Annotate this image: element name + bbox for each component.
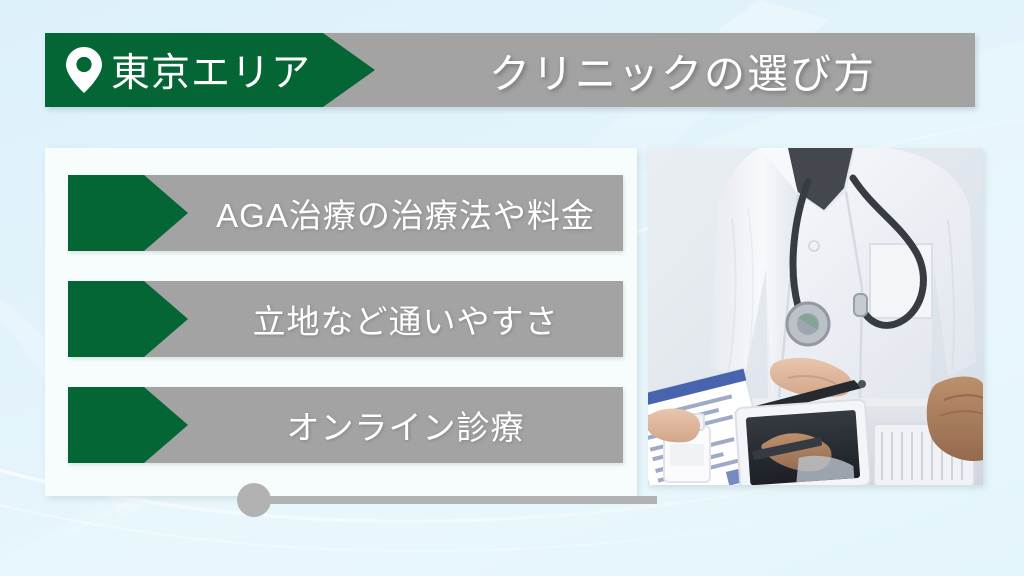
location-pin-icon: [66, 47, 102, 93]
list-item[interactable]: AGA治療の治療法や料金: [68, 175, 623, 251]
photo-illustration: [648, 148, 983, 485]
doctor-consultation-photo: [648, 148, 983, 485]
list-item[interactable]: 立地など通いやすさ: [68, 281, 623, 357]
checklist: AGA治療の治療法や料金 立地など通いやすさ オンライン診療: [68, 175, 623, 493]
region-label: 東京エリア: [111, 33, 311, 107]
list-item-label: オンライン診療: [188, 387, 623, 463]
slider-ornament[interactable]: [237, 483, 657, 517]
list-item-label: 立地など通いやすさ: [188, 281, 623, 357]
slider-knob[interactable]: [237, 483, 271, 517]
header-banner: クリニックの選び方 東京エリア: [45, 33, 975, 107]
page-title: クリニックの選び方: [390, 33, 975, 107]
list-item[interactable]: オンライン診療: [68, 387, 623, 463]
slider-track[interactable]: [267, 496, 657, 504]
slide-canvas: クリニックの選び方 東京エリア AGA治療の治療法や料金 立地など通いやすさ オ…: [0, 0, 1024, 576]
list-item-label: AGA治療の治療法や料金: [188, 175, 623, 251]
